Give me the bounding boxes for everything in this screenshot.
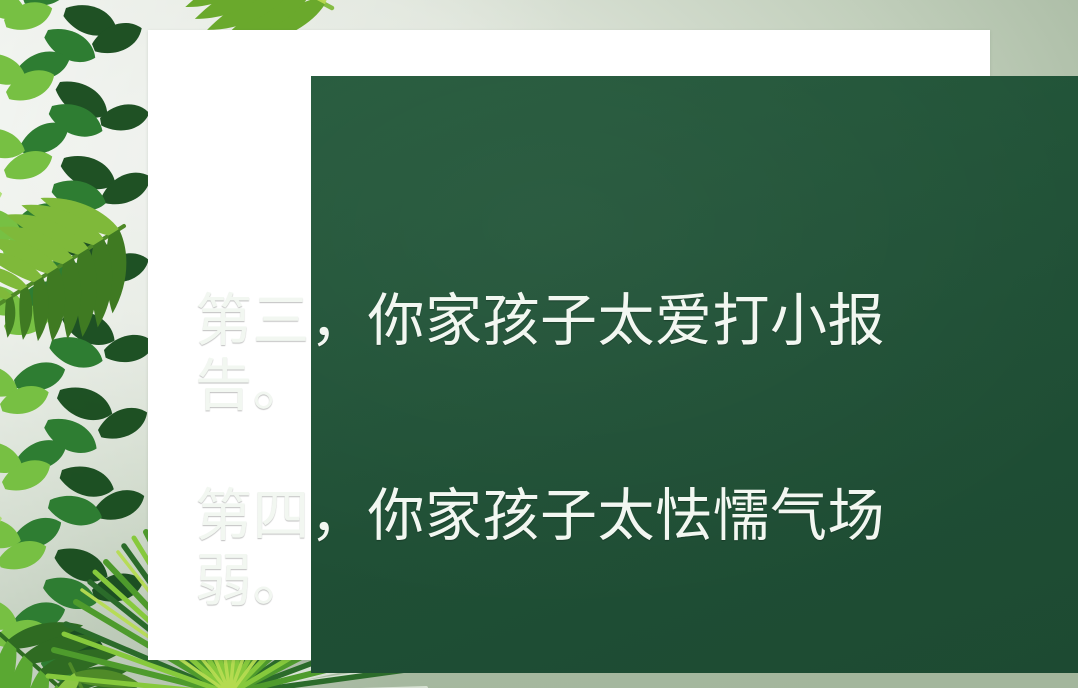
slide-canvas: 第三，你家孩子太爱打小报告。 第四，你家孩子太怯懦气场弱。 <box>0 0 1078 688</box>
slide-text-block: 第三，你家孩子太爱打小报告。 第四，你家孩子太怯懦气场弱。 <box>195 224 955 679</box>
slide-text-line-1: 第三，你家孩子太爱打小报告。 <box>195 289 955 419</box>
slide-text-line-2: 第四，你家孩子太怯懦气场弱。 <box>195 484 955 614</box>
